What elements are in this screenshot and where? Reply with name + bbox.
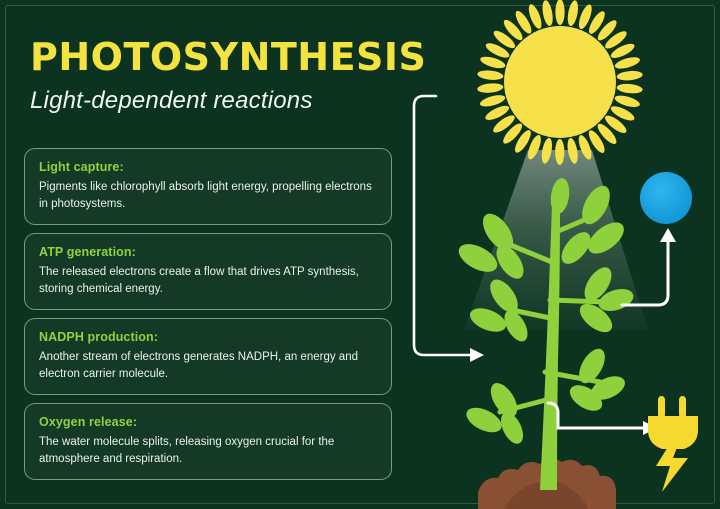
arrow-plant-to-oxygen-head	[660, 228, 676, 242]
step-card-atp-generation: ATP generation: The released electrons c…	[24, 233, 392, 310]
step-body: Pigments like chlorophyll absorb light e…	[39, 179, 377, 212]
power-plug-icon	[648, 396, 698, 492]
step-card-oxygen-release: Oxygen release: The water molecule split…	[24, 403, 392, 480]
oxygen-badge-circle	[640, 172, 692, 224]
page-subtitle: Light-dependent reactions	[30, 88, 313, 114]
step-body: Another stream of electrons generates NA…	[39, 349, 377, 382]
arrow-sun-to-plant	[414, 96, 470, 355]
step-card-light-capture: Light capture: Pigments like chlorophyll…	[24, 148, 392, 225]
photosynthesis-illustration	[400, 0, 720, 509]
text-column: PHOTOSYNTHESIS Light-dependent reactions…	[0, 0, 410, 509]
sun-icon	[477, 0, 643, 165]
step-body: The released electrons create a flow tha…	[39, 264, 377, 297]
photosynthesis-infographic: PHOTOSYNTHESIS Light-dependent reactions…	[0, 0, 720, 509]
page-title: PHOTOSYNTHESIS	[30, 38, 426, 76]
step-heading: NADPH production:	[39, 330, 377, 344]
step-heading: Light capture:	[39, 160, 377, 174]
step-card-nadph-production: NADPH production: Another stream of elec…	[24, 318, 392, 395]
arrow-sun-to-plant-head	[470, 348, 484, 362]
illustration-column: O2	[400, 0, 720, 509]
step-body: The water molecule splits, releasing oxy…	[39, 434, 377, 467]
step-heading: Oxygen release:	[39, 415, 377, 429]
step-heading: ATP generation:	[39, 245, 377, 259]
